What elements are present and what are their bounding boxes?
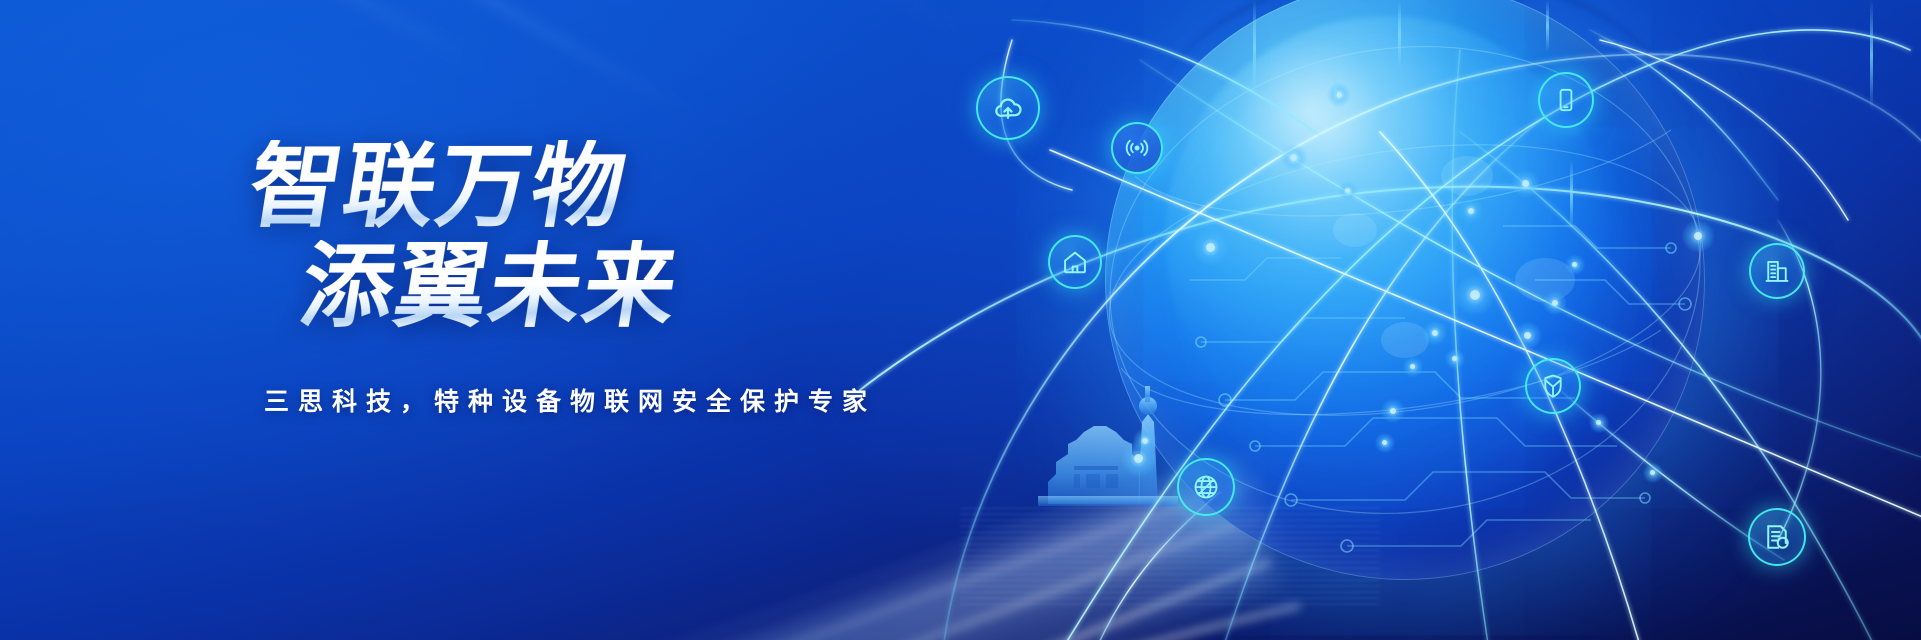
cloud-upload-icon[interactable] (976, 76, 1040, 140)
banner-subtitle: 三思科技，特种设备物联网安全保护专家 (264, 382, 1030, 418)
signal-wave-icon[interactable] (1111, 122, 1163, 174)
background-haze-streak-3 (517, 0, 963, 36)
shield-icon[interactable] (1525, 358, 1581, 414)
globe-network-icon[interactable] (1177, 458, 1235, 516)
background-haze-streak-1 (0, 0, 490, 73)
vertical-tick-line (1870, 0, 1873, 110)
background-haze-streak-2 (159, 0, 701, 124)
circuit-trace-pattern (1189, 226, 1685, 546)
iot-hero-banner: 智联万物 添翼未来 三思科技，特种设备物联网安全保护专家 (0, 0, 1921, 640)
mobile-phone-icon[interactable] (1538, 72, 1594, 128)
headline-line-2: 添翼未来 (295, 240, 1038, 334)
home-icon[interactable] (1048, 235, 1102, 289)
building-icon[interactable] (1749, 243, 1805, 299)
document-icon[interactable] (1748, 508, 1806, 566)
headline-line-1: 智联万物 (243, 140, 1038, 234)
headline-block: 智联万物 添翼未来 三思科技，特种设备物联网安全保护专家 (250, 140, 1030, 418)
